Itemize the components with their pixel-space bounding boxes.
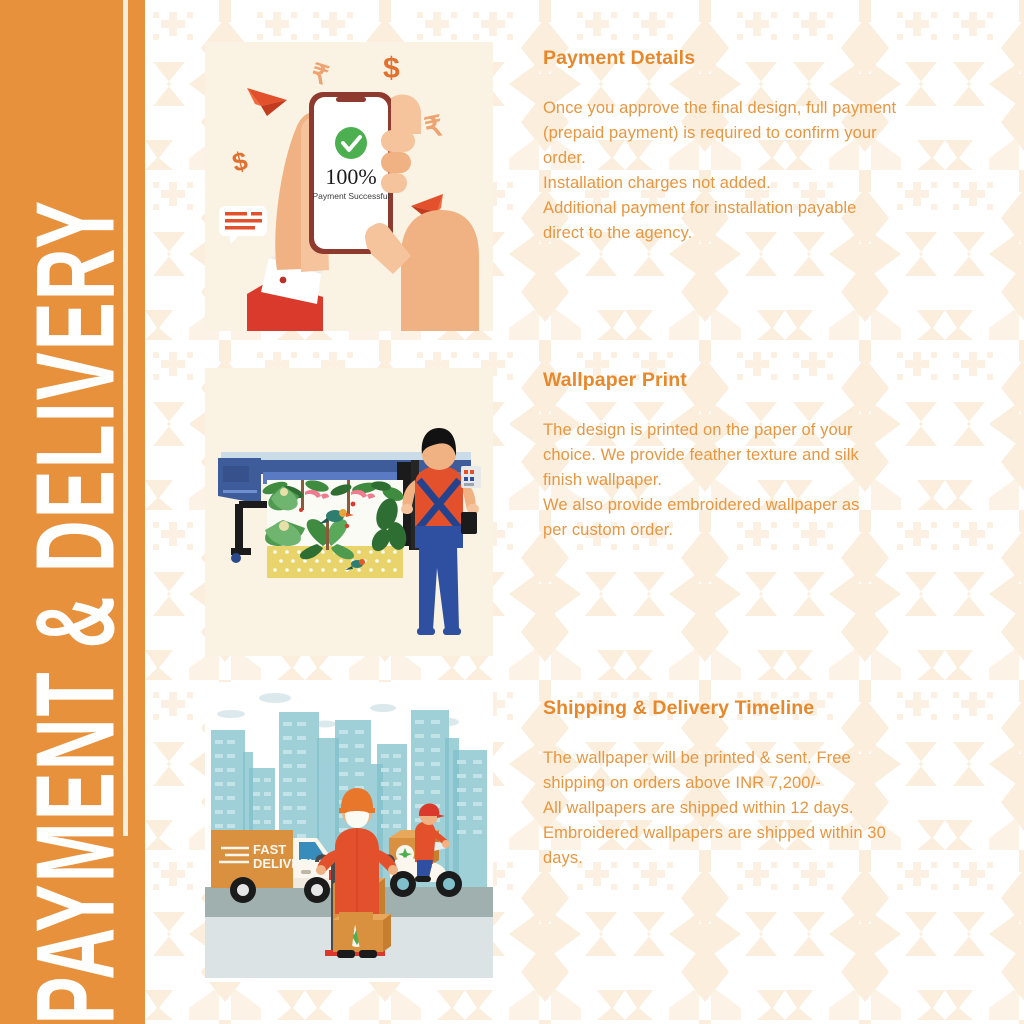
- body-line: order.: [543, 146, 963, 171]
- section-shipping-delivery: Shipping & Delivery Timeline The wallpap…: [543, 697, 973, 871]
- body-line: Embroidered wallpapers are shipped withi…: [543, 821, 973, 846]
- body-line: Once you approve the final design, full …: [543, 96, 963, 121]
- delivery-city-illustration: FAST DELIVERY: [205, 682, 493, 982]
- body-line: per custom order.: [543, 518, 963, 543]
- body-line: Installation charges not added.: [543, 171, 963, 196]
- body-line: shipping on orders above INR 7,200/-: [543, 771, 973, 796]
- body-line: We also provide embroidered wallpaper as: [543, 493, 963, 518]
- poster-root: PAYMENT & DELIVERY ₹ $ ₹ $: [0, 0, 1024, 1024]
- section-heading: Shipping & Delivery Timeline: [543, 697, 973, 720]
- section-body: The design is printed on the paper of yo…: [543, 418, 963, 543]
- wide-format-printer-illustration: [205, 368, 493, 656]
- section-body: Once you approve the final design, full …: [543, 96, 963, 246]
- page-title: PAYMENT & DELIVERY: [15, 179, 130, 1024]
- body-line: finish wallpaper.: [543, 468, 963, 493]
- tropical-wallpaper-print: [261, 478, 409, 578]
- check-circle-icon: [335, 127, 367, 159]
- truck-label-line2: DELIVERY: [253, 856, 318, 871]
- section-heading: Wallpaper Print: [543, 369, 963, 392]
- section-heading: Payment Details: [543, 47, 963, 70]
- section-payment-details: Payment Details Once you approve the fin…: [543, 47, 963, 246]
- body-line: The design is printed on the paper of yo…: [543, 418, 963, 443]
- phone-payment-illustration: ₹ $ ₹ $: [205, 42, 493, 331]
- payment-percent: 100%: [325, 164, 376, 189]
- section-wallpaper-print: Wallpaper Print The design is printed on…: [543, 369, 963, 543]
- sidebar-title-wrap: PAYMENT & DELIVERY: [0, 0, 145, 1024]
- dollar-symbol-1: $: [383, 52, 400, 85]
- body-line: Additional payment for installation paya…: [543, 196, 963, 221]
- truck-label-line1: FAST: [253, 842, 286, 857]
- payment-caption: Payment Successful: [312, 191, 389, 201]
- body-line: (prepaid payment) is required to confirm…: [543, 121, 963, 146]
- body-line: All wallpapers are shipped within 12 day…: [543, 796, 973, 821]
- body-line: The wallpaper will be printed & sent. Fr…: [543, 746, 973, 771]
- body-line: choice. We provide feather texture and s…: [543, 443, 963, 468]
- body-line: days.: [543, 846, 973, 871]
- section-body: The wallpaper will be printed & sent. Fr…: [543, 746, 973, 871]
- body-line: direct to the agency.: [543, 221, 963, 246]
